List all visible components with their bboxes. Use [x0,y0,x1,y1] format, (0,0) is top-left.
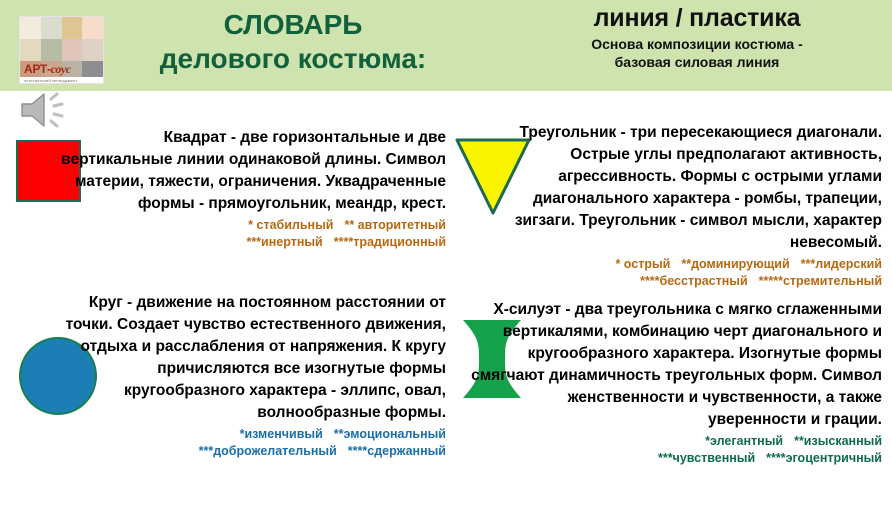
slide-root: АРТ-соус эстетический менеджмент СЛОВАРЬ… [0,0,892,505]
keyword: **изысканный [794,434,882,448]
page-title-left: СЛОВАРЬ делового костюма: [128,8,458,76]
keyword: **доминирующий [681,257,789,271]
logo-word-italic: соус [51,62,71,76]
keyword-line: ****бесстрастный*****стремительный [470,273,882,290]
logo-swatch [20,39,41,61]
section-square-keywords: * стабильный** авторитетный ***инертный*… [54,217,446,251]
keyword: ****эгоцентричный [766,451,882,465]
section-triangle-text: Треугольник - три пересекающиеся диагона… [470,122,882,290]
logo-tagline: эстетический менеджмент [20,77,103,83]
logo-word-main: АРТ- [24,62,51,76]
keyword-line: ***доброжелательный****сдержанный [54,443,446,460]
keyword: * стабильный [248,218,333,232]
keyword-line: ***инертный****традиционный [54,234,446,251]
section-x-body: Х-силуэт - два треугольника с мягко сгла… [471,301,882,428]
keyword: *изменчивый [240,427,323,441]
page-title-right: линия / пластика Основа композиции костю… [512,4,882,71]
keyword: ****сдержанный [348,444,446,458]
section-x-keywords: *элегантный**изысканный ***чувственный**… [470,433,882,467]
keyword-line: *изменчивый**эмоциональный [54,426,446,443]
section-x-text: Х-силуэт - два треугольника с мягко сгла… [470,299,882,467]
keyword: ****бесстрастный [640,274,748,288]
keyword: ***чувственный [658,451,755,465]
keyword: *элегантный [705,434,783,448]
logo-swatch [41,17,62,39]
section-circle-body: Круг - движение на постоянном расстоянии… [66,294,446,421]
section-square-text: Квадрат - две горизонтальные и две верти… [54,127,446,251]
page-subtitle-line1: Основа композиции костюма - [512,35,882,53]
keyword: **эмоциональный [334,427,446,441]
logo-swatch [62,17,83,39]
section-triangle-keywords: * острый**доминирующий***лидерский ****б… [470,256,882,290]
logo-swatch [82,39,103,61]
keyword: *****стремительный [759,274,882,288]
keyword: ** авторитетный [344,218,446,232]
section-triangle-body: Треугольник - три пересекающиеся диагона… [515,124,882,251]
speaker-sound-icon[interactable] [18,90,74,130]
keyword: ****традиционный [334,235,446,249]
logo-wordmark: АРТ-соус [24,61,71,77]
logo-swatch-grid [20,17,103,61]
keyword: * острый [615,257,670,271]
logo-swatch [20,17,41,39]
logo-swatch [62,39,83,61]
keyword-line: * стабильный** авторитетный [54,217,446,234]
section-circle-text: Круг - движение на постоянном расстоянии… [54,292,446,460]
logo-swatch [82,17,103,39]
art-sous-logo: АРТ-соус эстетический менеджмент [19,16,104,84]
keyword: ***доброжелательный [199,444,337,458]
keyword-line: * острый**доминирующий***лидерский [470,256,882,273]
section-circle-keywords: *изменчивый**эмоциональный ***доброжелат… [54,426,446,460]
page-title-right-main: линия / пластика [512,4,882,33]
page-title-left-line1: СЛОВАРЬ [224,9,363,40]
keyword: ***инертный [246,235,322,249]
keyword-line: *элегантный**изысканный [470,433,882,450]
page-title-left-line2: делового костюма: [128,42,458,76]
keyword-line: ***чувственный****эгоцентричный [470,450,882,467]
logo-wordmark-band: АРТ-соус [20,61,103,77]
section-square-body: Квадрат - две горизонтальные и две верти… [61,129,446,212]
page-subtitle-line2: базовая силовая линия [512,53,882,71]
logo-swatch [41,39,62,61]
keyword: ***лидерский [801,257,882,271]
